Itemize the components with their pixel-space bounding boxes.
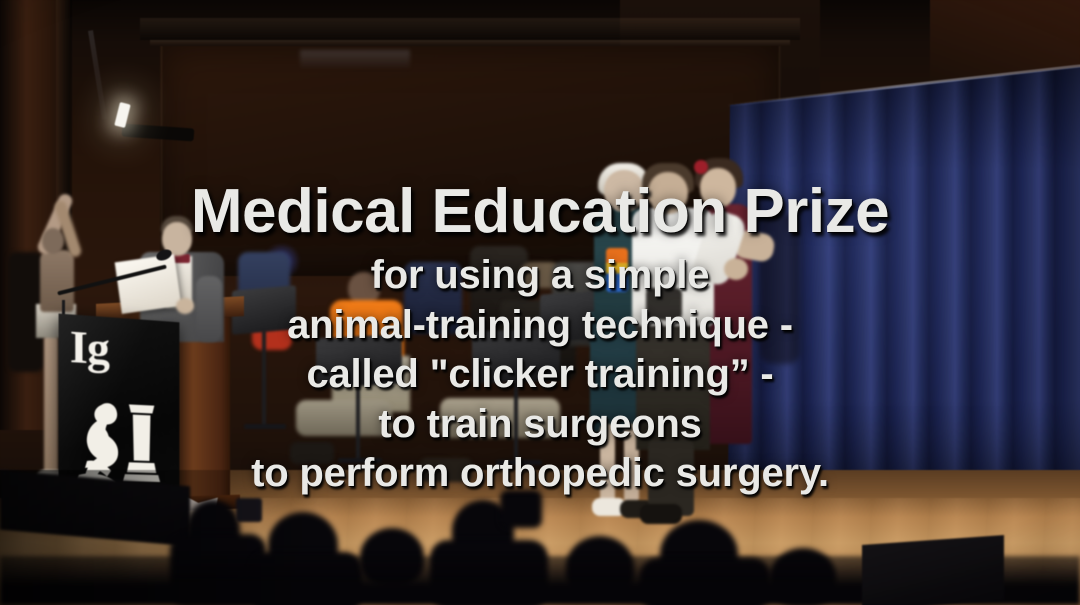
music-stand-base xyxy=(244,424,286,429)
music-stand-pole xyxy=(262,330,266,426)
presenter-hand xyxy=(724,258,748,280)
tshirt-graphic xyxy=(646,288,682,320)
music-stand-base xyxy=(496,460,542,465)
stage-speaker-box xyxy=(862,535,1004,605)
music-stand-pole xyxy=(514,380,518,462)
hair-flower-icon xyxy=(694,160,708,174)
orchestra-member xyxy=(404,262,462,334)
audience-raised-hand xyxy=(500,490,542,528)
attendee-leg xyxy=(44,334,58,476)
stage-scene: Ig xyxy=(0,0,1080,605)
honoree-ribbon-medal xyxy=(606,248,628,292)
honoree-head xyxy=(604,170,644,212)
orchestra-member-legs xyxy=(440,398,560,438)
stage-shadow xyxy=(0,470,330,605)
music-stand-base xyxy=(338,458,382,463)
shoe xyxy=(290,442,334,464)
shoe xyxy=(420,458,472,482)
speaker-hand xyxy=(176,298,194,314)
orchestra-member-legs xyxy=(296,400,392,436)
attendee-torso xyxy=(40,250,74,312)
presenter-shoe xyxy=(640,504,682,524)
wall-vent xyxy=(300,50,410,68)
attendee-head xyxy=(700,168,736,208)
music-stand-pole xyxy=(356,384,360,460)
speech-paper xyxy=(115,254,182,314)
presenter-pants xyxy=(636,318,710,450)
wall-cornice xyxy=(140,18,800,40)
speaker-arm xyxy=(196,276,222,342)
honoree-leg xyxy=(600,424,615,504)
music-stand xyxy=(316,334,402,389)
presenter-head xyxy=(648,172,688,214)
video-frame: Ig xyxy=(0,0,1080,605)
attendee-head xyxy=(42,228,64,254)
